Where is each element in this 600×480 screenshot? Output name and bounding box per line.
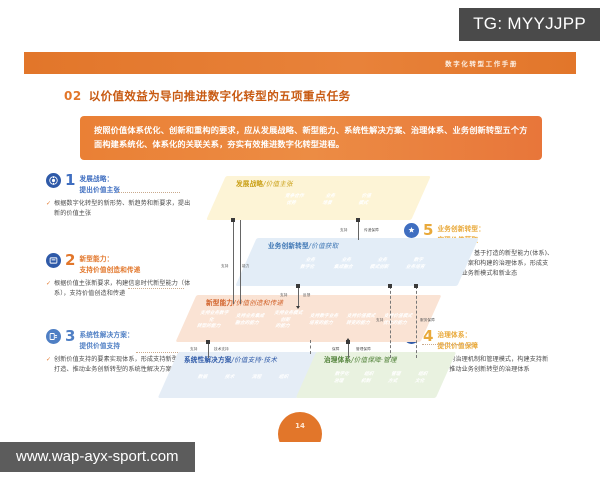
cell-strategy-2: 价值模式: [343, 190, 385, 211]
connector-node: [356, 218, 360, 222]
layer-governance-cells: 数字化治理 组织机制 管理方式 组织文化: [328, 367, 433, 390]
layer-strategy-label-bold: 发展战略: [236, 180, 263, 188]
telegram-watermark: TG: MYYJJPP: [459, 8, 600, 41]
connector-label-capability: 能力: [242, 264, 249, 269]
connector-capability-governance: [348, 342, 349, 358]
connector-strategy-business: [358, 220, 359, 240]
connector-dashed-solution-governance: [310, 340, 311, 354]
connector-label-tech-support: 技术支持: [214, 347, 229, 352]
layer-solution-cells: 数据 技术 流程 组织: [190, 367, 295, 390]
cell-business-3: 数字业务培育: [395, 253, 438, 276]
layer-strategy-label-rest: /价值主张: [263, 180, 293, 188]
connector-arrow-up: [346, 338, 350, 341]
layer-governance-label: 治理体系/价值保障·管理: [324, 354, 397, 364]
layer-strategy-cells: 竞争合作优势 业务场景 价值模式: [276, 190, 381, 211]
connector-label-mgmt-guarantee: 管理保障: [356, 347, 371, 352]
layer-solution-label-rest: /价值支持·技术: [232, 356, 277, 364]
guide-line-left-1: [118, 192, 180, 193]
layer-business-label: 业务创新转型/价值获取: [268, 240, 338, 250]
page-number-wrap: 14: [18, 412, 582, 442]
guide-line-left-2: [128, 288, 184, 289]
connector-label-service-guarantee: 服务保障: [420, 318, 435, 323]
connector-node: [388, 284, 392, 288]
connector-arrow-down: [296, 306, 300, 309]
connector-label-support-3: 支持: [280, 293, 287, 298]
connector-label-feedback: 反馈: [303, 293, 310, 298]
connector-strategy-capability-b: [240, 220, 241, 304]
connector-label-support-2: 支持: [340, 228, 347, 233]
layer-solution-label: 系统性解决方案/价值支持·技术: [184, 354, 277, 364]
layer-capability-label: 新型能力/价值创造和传递: [206, 297, 283, 307]
connector-label-support-5: 支持: [376, 318, 383, 323]
layer-business-label-rest: /价值获取: [309, 242, 339, 250]
connector-label-support-4: 支持: [190, 347, 197, 352]
connector-label-transfer: 传递保障: [364, 228, 379, 233]
connector-node: [414, 284, 418, 288]
layer-business-cells: 业务数字化 业务集成融合 业务模式创新 数字业务培育: [292, 253, 433, 276]
connector-strategy-capability-a: [233, 220, 234, 304]
slide-canvas: 数字化转型工作手册 02 以价值效益为导向推进数字化转型的五项重点任务 按照价值…: [18, 52, 582, 442]
connector-label-support-1: 支持: [221, 264, 228, 269]
connector-node: [296, 284, 300, 288]
connector-label-guarantee: 保障: [332, 347, 339, 352]
connector-node: [231, 218, 235, 222]
connector-business-capability: [298, 286, 299, 308]
connector-dashed-business-governance-b: [416, 286, 417, 358]
guide-line-right-2: [422, 344, 472, 345]
page-number: 14: [278, 412, 322, 442]
connector-dashed-business-governance-a: [390, 286, 391, 358]
connector-capability-solution: [208, 342, 209, 358]
layer-strategy-label: 发展战略/价值主张: [236, 178, 293, 188]
site-url-watermark: www.wap-ayx-sport.com: [0, 442, 195, 472]
connector-node: [206, 340, 210, 344]
value-system-diagram: 发展战略/价值主张 竞争合作优势 业务场景 价值模式 业务创新转型/价值获取 业…: [18, 52, 582, 442]
layer-capability-label-bold: 新型能力: [206, 299, 233, 307]
layer-business-label-bold: 业务创新转型: [268, 242, 309, 250]
